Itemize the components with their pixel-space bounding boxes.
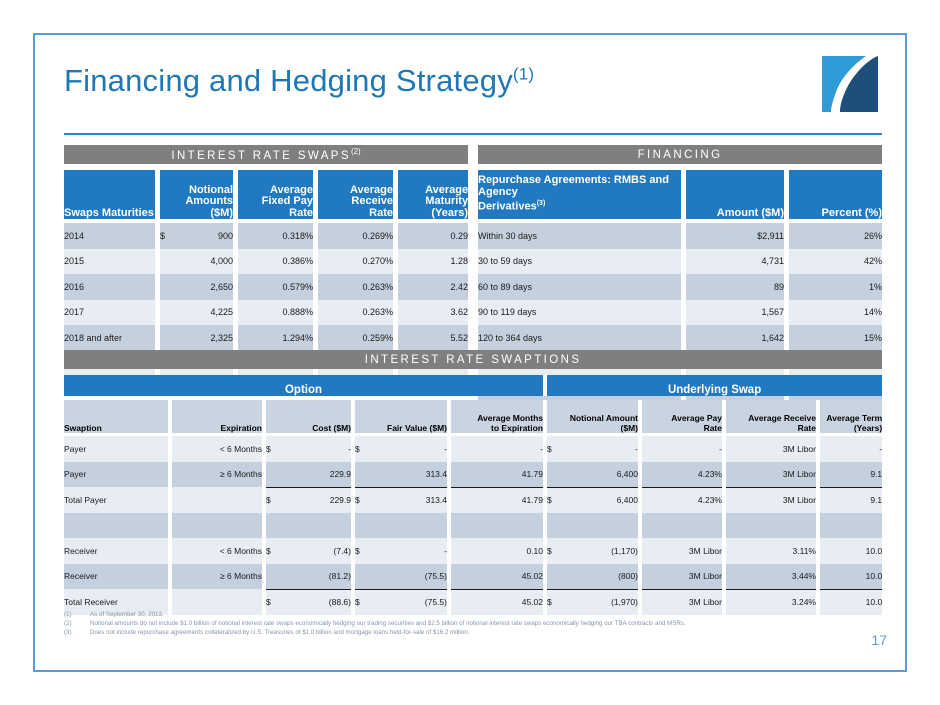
swaptions-cell-cost: $(7.4) <box>266 538 351 564</box>
swaptions-col-header-cost: Cost ($M) <box>266 400 351 433</box>
swaptions-cell-avg-months: 41.79 <box>451 487 543 513</box>
swaptions-cell-avg-receive-rate: 3M Libor <box>726 462 816 488</box>
swaptions-cell-fair-value: $313.4 <box>355 487 447 513</box>
footnote-text: Does not include repurchase agreements c… <box>90 628 469 637</box>
swaptions-cell-avg-term: 9.1 <box>820 487 882 513</box>
table-row <box>64 513 882 539</box>
financing-cell-percent: 26% <box>789 223 882 249</box>
table-row: Within 30 days$2,91126% <box>478 223 882 249</box>
swaps-cell-maturity-label: 2018 and after <box>64 325 155 351</box>
table-row: Payer< 6 Months$-$--$--3M Libor- <box>64 436 882 462</box>
swaptions-cell-expiration <box>172 513 262 539</box>
swaptions-cell-notional: $6,400 <box>547 487 638 513</box>
swaps-col-header-maturity: Average Maturity (Years) <box>398 170 468 219</box>
page-title: Financing and Hedging Strategy(1) <box>64 63 534 99</box>
swaptions-cell-expiration: ≥ 6 Months <box>172 564 262 590</box>
table-row: Receiver≥ 6 Months(81.2)(75.5)45.02(800)… <box>64 564 882 590</box>
swaptions-cell-avg-term <box>820 513 882 539</box>
swaptions-cell-avg-term: 10.0 <box>820 538 882 564</box>
page-number: 17 <box>871 632 887 648</box>
swaps-col-header-fixed-pay: Average Fixed Pay Rate <box>238 170 313 219</box>
swaps-col-header-notional: Notional Amounts ($M) <box>160 170 233 219</box>
swaptions-cell-avg-months: 41.79 <box>451 462 543 488</box>
swaptions-group-header-row: Option Underlying Swap <box>64 375 882 396</box>
swaptions-col-header-avg-receive-rate: Average Receive Rate <box>726 400 816 433</box>
financing-cell-percent: 42% <box>789 249 882 275</box>
swaptions-col-header-avg-term: Average Term (Years) <box>820 400 882 433</box>
swaps-cell-avg-maturity: 0.29 <box>398 223 468 249</box>
footnotes: (1)As of September 30, 2013.(2)Notional … <box>64 610 824 638</box>
swaptions-cell-type: Total Payer <box>64 487 168 513</box>
swaps-cell-maturity-label: 2014 <box>64 223 155 249</box>
financing-cell-amount: $2,911 <box>686 223 784 249</box>
table-row: 60 to 89 days891% <box>478 274 882 300</box>
swaps-header-row: Swaps Maturities Notional Amounts ($M) A… <box>64 170 468 219</box>
swaptions-cell-avg-pay-rate <box>642 513 722 539</box>
swaptions-cell-notional: 6,400 <box>547 462 638 488</box>
swaptions-table-body: Payer< 6 Months$-$--$--3M Libor-Payer≥ 6… <box>64 436 882 615</box>
swaptions-group-option: Option <box>64 375 543 396</box>
swaps-cell-avg-maturity: 3.62 <box>398 300 468 326</box>
swaptions-cell-avg-receive-rate: 3.44% <box>726 564 816 590</box>
swaptions-cell-avg-receive-rate: 3M Libor <box>726 436 816 462</box>
swaps-band-title: INTEREST RATE SWAPS(2) <box>64 145 468 164</box>
swaptions-cell-fair-value: (75.5) <box>355 564 447 590</box>
financing-cell-amount: 1,567 <box>686 300 784 326</box>
swaptions-col-header-notional-amount: Notional Amount ($M) <box>547 400 638 433</box>
swaps-cell-receive-rate: 0.259% <box>318 325 393 351</box>
swaps-cell-notional: 2,325 <box>160 325 233 351</box>
table-row: Payer≥ 6 Months229.9313.441.796,4004.23%… <box>64 462 882 488</box>
financing-col-header-amount: Amount ($M) <box>686 170 784 219</box>
swaptions-cell-expiration: < 6 Months <box>172 436 262 462</box>
table-row: Receiver< 6 Months$(7.4)$-0.10$(1,170)3M… <box>64 538 882 564</box>
swaptions-cell-avg-pay-rate: 4.23% <box>642 487 722 513</box>
table-row: 120 to 364 days1,64215% <box>478 325 882 351</box>
swaptions-cell-avg-months: - <box>451 436 543 462</box>
financing-cell-amount: 4,731 <box>686 249 784 275</box>
financing-cell-amount: 89 <box>686 274 784 300</box>
swaptions-cell-avg-receive-rate <box>726 513 816 539</box>
company-logo-mark <box>822 56 878 112</box>
company-logo <box>822 56 878 112</box>
swaps-cell-receive-rate: 0.263% <box>318 274 393 300</box>
financing-cell-percent: 15% <box>789 325 882 351</box>
swaptions-cell-avg-term: 9.1 <box>820 462 882 488</box>
financing-col-header-percent: Percent (%) <box>789 170 882 219</box>
swaptions-cell-fair-value: 313.4 <box>355 462 447 488</box>
swaps-cell-fixed-pay-rate: 1.294% <box>238 325 313 351</box>
swaptions-col-header-swaption: Swaption <box>64 400 168 433</box>
financing-cell-percent: 14% <box>789 300 882 326</box>
financing-cell-period-label: 90 to 119 days <box>478 300 681 326</box>
financing-band-row: FINANCING <box>478 145 882 164</box>
swaptions-cell-avg-term: - <box>820 436 882 462</box>
swaptions-cell-cost: 229.9 <box>266 462 351 488</box>
slide-frame: Financing and Hedging Strategy(1) INTERE… <box>33 33 907 672</box>
table-row: Total Payer$229.9$313.441.79$6,4004.23%3… <box>64 487 882 513</box>
swaptions-cell-avg-receive-rate: 3M Libor <box>726 487 816 513</box>
swaptions-band-title: INTEREST RATE SWAPTIONS <box>64 350 882 369</box>
financing-cell-period-label: 120 to 364 days <box>478 325 681 351</box>
swaps-cell-fixed-pay-rate: 0.386% <box>238 249 313 275</box>
swaptions-cell-type: Payer <box>64 462 168 488</box>
swaptions-cell-expiration: < 6 Months <box>172 538 262 564</box>
swaptions-cell-notional: $(1,170) <box>547 538 638 564</box>
financing-cell-amount: 1,642 <box>686 325 784 351</box>
swaps-cell-avg-maturity: 2.42 <box>398 274 468 300</box>
swaptions-cell-expiration <box>172 487 262 513</box>
page-title-footnote-ref: (1) <box>513 65 534 84</box>
swaps-cell-notional: 4,225 <box>160 300 233 326</box>
swaptions-col-header-expiration: Expiration <box>172 400 262 433</box>
financing-col-header-repo: Repurchase Agreements: RMBS and Agency D… <box>478 170 681 219</box>
swaptions-cell-expiration: ≥ 6 Months <box>172 462 262 488</box>
footnote-marker: (2) <box>64 619 90 628</box>
swaptions-group-underlying-swap: Underlying Swap <box>547 375 882 396</box>
swaptions-band-row: INTEREST RATE SWAPTIONS <box>64 350 882 369</box>
financing-band-title: FINANCING <box>478 145 882 164</box>
footnote-marker: (1) <box>64 610 90 619</box>
footnote-item: (1)As of September 30, 2013. <box>64 610 824 619</box>
interest-rate-swaps-table: INTEREST RATE SWAPS(2) Swaps Maturities … <box>64 145 468 376</box>
swaptions-cell-avg-months <box>451 513 543 539</box>
swaptions-cell-fair-value <box>355 513 447 539</box>
swaptions-cell-avg-months: 45.02 <box>451 564 543 590</box>
title-divider <box>64 133 882 135</box>
swaps-cell-receive-rate: 0.270% <box>318 249 393 275</box>
footnote-text: Notional amounts do not include $1.0 bil… <box>90 619 686 628</box>
table-row: 20154,0000.386%0.270%1.28 <box>64 249 468 275</box>
interest-rate-swaps-section: INTEREST RATE SWAPS(2) Swaps Maturities … <box>64 145 468 376</box>
swaptions-cell-notional: (800) <box>547 564 638 590</box>
table-row: 20162,6500.579%0.263%2.42 <box>64 274 468 300</box>
footnote-item: (2)Notional amounts do not include $1.0 … <box>64 619 824 628</box>
swaps-cell-receive-rate: 0.269% <box>318 223 393 249</box>
financing-cell-period-label: Within 30 days <box>478 223 681 249</box>
footnote-item: (3)Does not include repurchase agreement… <box>64 628 824 637</box>
swaps-cell-notional: 2,650 <box>160 274 233 300</box>
table-row: 90 to 119 days1,56714% <box>478 300 882 326</box>
swaptions-cell-type: Payer <box>64 436 168 462</box>
table-row: 30 to 59 days4,73142% <box>478 249 882 275</box>
table-row: 20174,2250.888%0.263%3.62 <box>64 300 468 326</box>
swaps-cell-fixed-pay-rate: 0.579% <box>238 274 313 300</box>
swaptions-cell-avg-term: 10.0 <box>820 589 882 615</box>
financing-cell-period-label: 30 to 59 days <box>478 249 681 275</box>
swaptions-cell-avg-pay-rate: - <box>642 436 722 462</box>
swaptions-cell-cost: $- <box>266 436 351 462</box>
swaps-cell-avg-maturity: 1.28 <box>398 249 468 275</box>
swaptions-col-header-avg-pay-rate: Average Pay Rate <box>642 400 722 433</box>
swaps-cell-receive-rate: 0.263% <box>318 300 393 326</box>
interest-rate-swaptions-section: INTEREST RATE SWAPTIONS Option Underlyin… <box>64 350 882 615</box>
swaptions-cell-notional <box>547 513 638 539</box>
swaptions-column-header-row: Swaption Expiration Cost ($M) Fair Value… <box>64 400 882 433</box>
swaptions-col-header-avg-months: Average Months to Expiration <box>451 400 543 433</box>
swaptions-cell-avg-pay-rate: 4.23% <box>642 462 722 488</box>
footnote-text: As of September 30, 2013. <box>90 610 164 619</box>
swaps-cell-avg-maturity: 5.52 <box>398 325 468 351</box>
swaps-col-header-receive: Average Receive Rate <box>318 170 393 219</box>
swaptions-cell-type: Receiver <box>64 564 168 590</box>
financing-header-row: Repurchase Agreements: RMBS and Agency D… <box>478 170 882 219</box>
swaptions-cell-fair-value: $- <box>355 436 447 462</box>
financing-cell-period-label: 60 to 89 days <box>478 274 681 300</box>
swaptions-cell-fair-value: $- <box>355 538 447 564</box>
page-title-text: Financing and Hedging Strategy <box>64 63 513 98</box>
swaptions-cell-avg-receive-rate: 3.11% <box>726 538 816 564</box>
swaps-cell-maturity-label: 2016 <box>64 274 155 300</box>
swaptions-col-header-fair-value: Fair Value ($M) <box>355 400 447 433</box>
table-row: 2014$9000.318%0.269%0.29 <box>64 223 468 249</box>
table-row: 2018 and after2,3251.294%0.259%5.52 <box>64 325 468 351</box>
swaptions-cell-type <box>64 513 168 539</box>
swaps-band-row: INTEREST RATE SWAPS(2) <box>64 145 468 164</box>
swaps-col-header-maturities: Swaps Maturities <box>64 170 155 219</box>
swaps-cell-maturity-label: 2015 <box>64 249 155 275</box>
swaptions-cell-avg-pay-rate: 3M Libor <box>642 538 722 564</box>
swaps-cell-fixed-pay-rate: 0.318% <box>238 223 313 249</box>
swaps-cell-notional: $900 <box>160 223 233 249</box>
financing-cell-percent: 1% <box>789 274 882 300</box>
swaptions-cell-cost: $229.9 <box>266 487 351 513</box>
swaptions-table: INTEREST RATE SWAPTIONS Option Underlyin… <box>64 350 882 615</box>
swaptions-cell-cost <box>266 513 351 539</box>
swaptions-cell-notional: $- <box>547 436 638 462</box>
swaptions-cell-avg-months: 0.10 <box>451 538 543 564</box>
swaps-cell-notional: 4,000 <box>160 249 233 275</box>
swaps-cell-fixed-pay-rate: 0.888% <box>238 300 313 326</box>
swaps-cell-maturity-label: 2017 <box>64 300 155 326</box>
footnote-marker: (3) <box>64 628 90 637</box>
swaptions-cell-cost: (81.2) <box>266 564 351 590</box>
swaptions-cell-type: Receiver <box>64 538 168 564</box>
swaptions-cell-avg-term: 10.0 <box>820 564 882 590</box>
swaptions-cell-avg-pay-rate: 3M Libor <box>642 564 722 590</box>
